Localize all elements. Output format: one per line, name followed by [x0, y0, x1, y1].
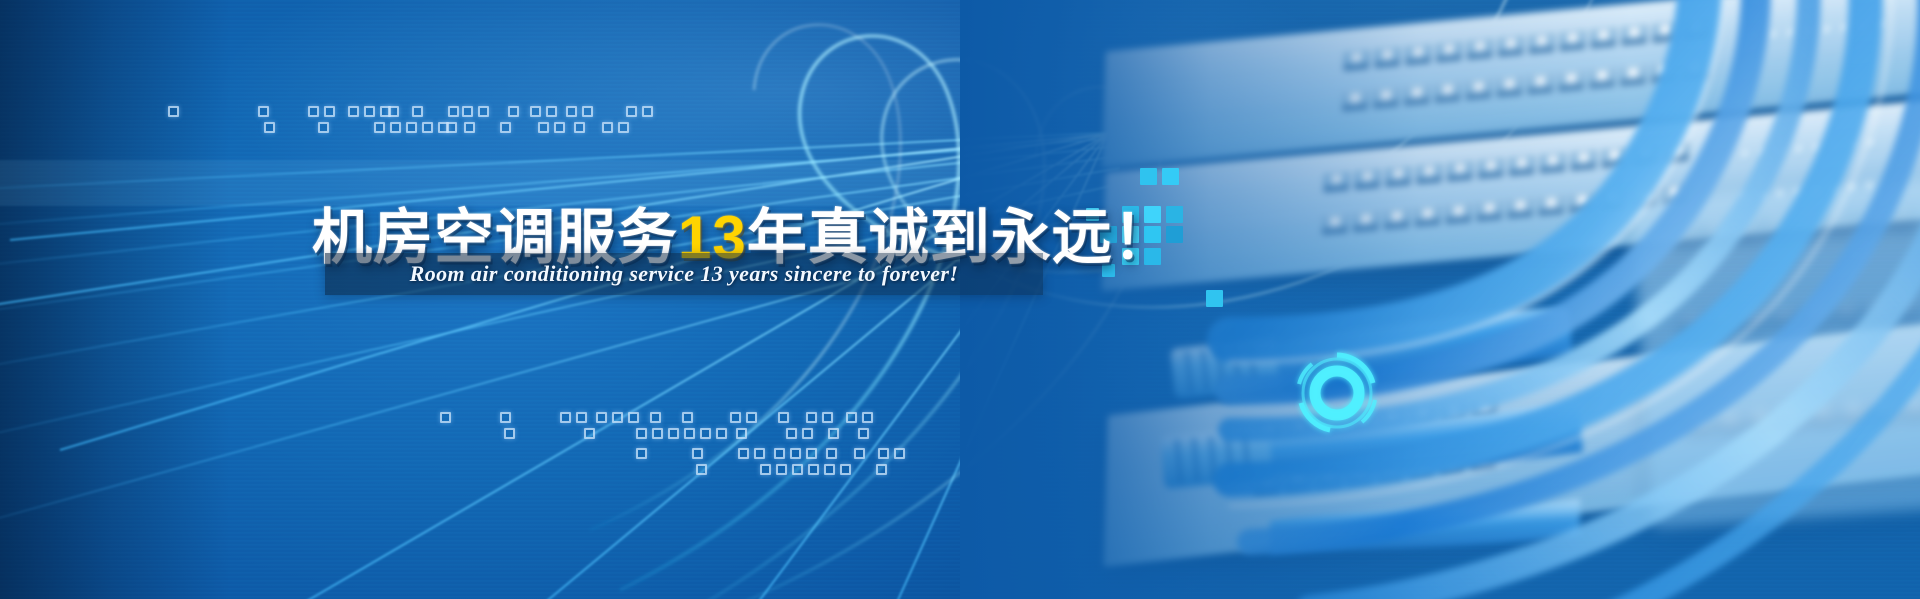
- server-switch-photo: [960, 0, 1920, 599]
- hud-ring-icon: [1282, 338, 1392, 448]
- photo-left-fade: [960, 0, 1920, 599]
- subtitle-text: Room air conditioning service 13 years s…: [325, 253, 1043, 295]
- subtitle-bar: Room air conditioning service 13 years s…: [325, 253, 1043, 295]
- data-squares-bottom: [0, 0, 1100, 599]
- hero-banner: 机房空调服务13年真诚到永远！ Room air conditioning se…: [0, 0, 1920, 599]
